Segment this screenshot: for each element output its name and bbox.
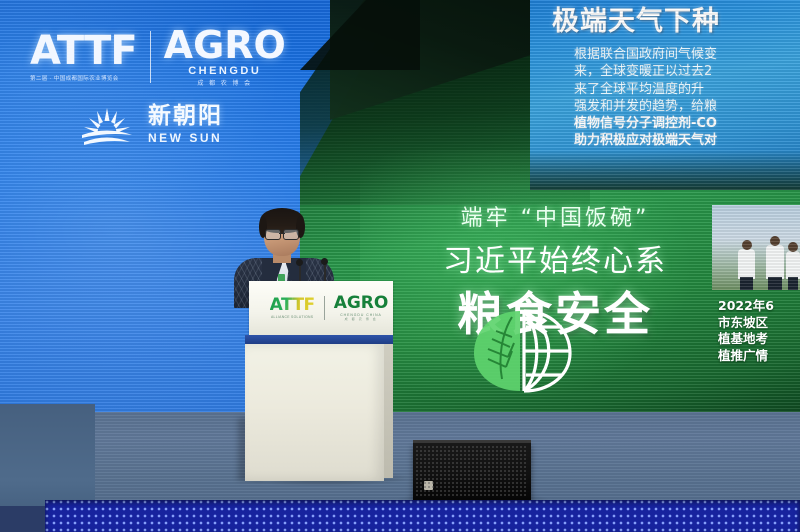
- slide-body-line: 来，全球变暖正以过去2: [574, 63, 800, 80]
- caption-line: 植推广情: [718, 348, 774, 365]
- caption-line: 植基地考: [718, 331, 774, 348]
- podium-agro-sub-cn: 成 都 农 博 会: [334, 317, 389, 321]
- podium-attf-subtitle: ALLIANCE SOLUTIONS: [270, 315, 315, 319]
- field-inspection-photo: [712, 205, 800, 290]
- attf-logo-subtitle: 第二届 · 中国成都国际农业博览会: [30, 74, 137, 82]
- podium-top-panel: ATTF ALLIANCE SOLUTIONS AGRO CHENGDU CHI…: [249, 281, 393, 335]
- podium-agro-logo-icon: AGRO CHENGDU CHINA 成 都 农 博 会: [334, 295, 389, 322]
- agro-logo-icon: AGRO CHENGDU 成 都 农 博 会: [164, 26, 286, 87]
- slide-body-line: 来了全球平均温度的升: [574, 81, 800, 98]
- logo-divider: [150, 31, 151, 83]
- caption-line: 市东坡区: [718, 315, 774, 332]
- podium-logo-lockup: ATTF ALLIANCE SOLUTIONS AGRO CHENGDU CHI…: [267, 291, 391, 325]
- newsun-logo-cn: 新朝阳: [148, 105, 223, 128]
- newsun-logo-lockup: 新朝阳 NEW SUN: [78, 102, 223, 148]
- stage-photo: ATTF 第二届 · 中国成都国际农业博览会 AGRO CHENGDU 成 都 …: [0, 0, 800, 532]
- presentation-slide-blue: 极端天气下种 根据联合国政府间气候变 来，全球变暖正以过去2 来了全球平均温度的…: [530, 0, 800, 190]
- speaker-podium: ATTF ALLIANCE SOLUTIONS AGRO CHENGDU CHI…: [241, 281, 393, 481]
- backdrop-logo-lockup: ATTF 第二届 · 中国成都国际农业博览会 AGRO CHENGDU 成 都 …: [30, 26, 286, 87]
- podium-attf-wordmark: ATTF: [270, 297, 315, 314]
- attf-logo-wordmark: ATTF: [30, 31, 137, 71]
- monitor-badge-plate: [424, 481, 433, 490]
- slide-body-text: 根据联合国政府间气候变 来，全球变暖正以过去2 来了全球平均温度的升 强发和并发…: [574, 46, 800, 150]
- microphone-stem-right: [324, 264, 326, 282]
- microphone-head-right: [321, 258, 328, 265]
- newsun-logo-en: NEW SUN: [148, 131, 223, 145]
- green-slide-midline: 习近平始终心系: [390, 236, 720, 280]
- green-slide-subtitle: 端牢 “中国饭碗”: [390, 200, 720, 232]
- stage-monitor-speaker: [413, 443, 531, 500]
- eyeglasses-icon: [265, 229, 299, 238]
- blue-led-floor-riser: [45, 500, 800, 532]
- podium-logo-divider: [324, 296, 325, 320]
- leaf-globe-emblem-icon: [462, 305, 582, 397]
- podium-side-face: [384, 344, 393, 478]
- sunrise-field-icon: [78, 102, 136, 148]
- podium-attf-logo-icon: ATTF ALLIANCE SOLUTIONS: [270, 297, 315, 319]
- slide-bottom-shade: [530, 150, 800, 190]
- podium-agro-wordmark: AGRO: [334, 295, 389, 312]
- microphone-stem-left: [299, 264, 301, 282]
- photo-caption: 2022年6 市东坡区 植基地考 植推广情: [718, 298, 774, 364]
- slide-body-line-bold: 助力积极应对极端天气对: [574, 132, 800, 149]
- slide-body-line: 强发和并发的趋势，给粮: [574, 98, 800, 115]
- slide-body-line-bold: 植物信号分子调控剂-CO: [574, 115, 800, 132]
- agro-logo-wordmark: AGRO: [164, 26, 286, 64]
- podium-blue-stripe: [245, 335, 393, 344]
- attf-logo-icon: ATTF 第二届 · 中国成都国际农业博览会: [30, 31, 137, 82]
- agro-logo-sub-cn: 成 都 农 博 会: [164, 78, 286, 87]
- slide-body-line: 根据联合国政府间气候变: [574, 46, 800, 63]
- microphone-head-left: [296, 259, 303, 266]
- slide-headline: 极端天气下种: [552, 8, 720, 35]
- podium-front-body: [245, 344, 384, 481]
- caption-line: 2022年6: [718, 298, 774, 315]
